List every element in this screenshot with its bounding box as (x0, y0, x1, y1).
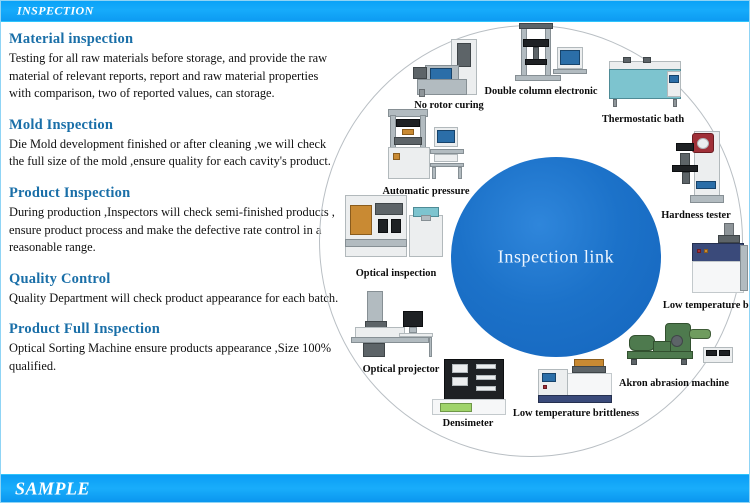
section-product-inspection: Product Inspection During production ,In… (9, 185, 339, 257)
node-optical-projector: Optical projector (331, 291, 471, 376)
section-body: Quality Department will check product ap… (9, 290, 339, 308)
node-label: Optical projector (331, 364, 471, 376)
node-thermostatic-bath: Thermostatic bath (583, 51, 703, 126)
automatic-pressure-icon (366, 109, 486, 185)
section-heading: Product Full Inspection (9, 321, 339, 338)
node-low-temperature-brittleness-right: Low temperature brittleness (646, 223, 750, 312)
node-label: Hardness tester (636, 210, 750, 222)
low-temperature-brittleness-icon (666, 223, 750, 299)
section-body: During production ,Inspectors will check… (9, 204, 339, 257)
inspection-descriptions: Material inspection Testing for all raw … (9, 31, 339, 390)
optical-projector-icon (341, 291, 461, 363)
section-quality-control: Quality Control Quality Department will … (9, 271, 339, 308)
node-label: Densimeter (408, 418, 528, 430)
node-label: Optical inspection (321, 268, 471, 280)
section-heading: Quality Control (9, 271, 339, 288)
section-product-full-inspection: Product Full Inspection Optical Sorting … (9, 321, 339, 375)
section-material-inspection: Material inspection Testing for all raw … (9, 31, 339, 103)
section-body: Testing for all raw materials before sto… (9, 50, 339, 103)
page-title: INSPECTION (17, 4, 94, 19)
section-body: Optical Sorting Machine ensure products … (9, 340, 339, 375)
node-hardness-tester: Hardness tester (636, 131, 750, 222)
bottom-banner: SAMPLE (1, 474, 749, 502)
node-label: Low temperature brittleness (646, 300, 750, 312)
section-body: Die Mold development finished or after c… (9, 136, 339, 171)
section-heading: Product Inspection (9, 185, 339, 202)
hub-label: Inspection link (451, 247, 661, 268)
thermostatic-bath-icon (593, 51, 693, 113)
hardness-tester-icon (646, 131, 746, 209)
section-heading: Mold Inspection (9, 117, 339, 134)
optical-inspection-icon (331, 195, 461, 267)
top-banner: INSPECTION (1, 1, 749, 22)
section-mold-inspection: Mold Inspection Die Mold development fin… (9, 117, 339, 171)
low-temperature-brittleness-icon (516, 357, 636, 407)
node-automatic-pressure: Automatic pressure (356, 109, 496, 198)
node-label: Thermostatic bath (583, 114, 703, 126)
inspection-link-diagram: Inspection link No rotor curing (311, 23, 750, 463)
inspection-page: INSPECTION Material inspection Testing f… (0, 0, 750, 503)
section-heading: Material inspection (9, 31, 339, 48)
sample-label: SAMPLE (15, 478, 90, 499)
double-column-electronic-icon (491, 23, 591, 85)
node-optical-inspection: Optical inspection (321, 195, 471, 280)
node-label: Automatic pressure (356, 186, 496, 198)
